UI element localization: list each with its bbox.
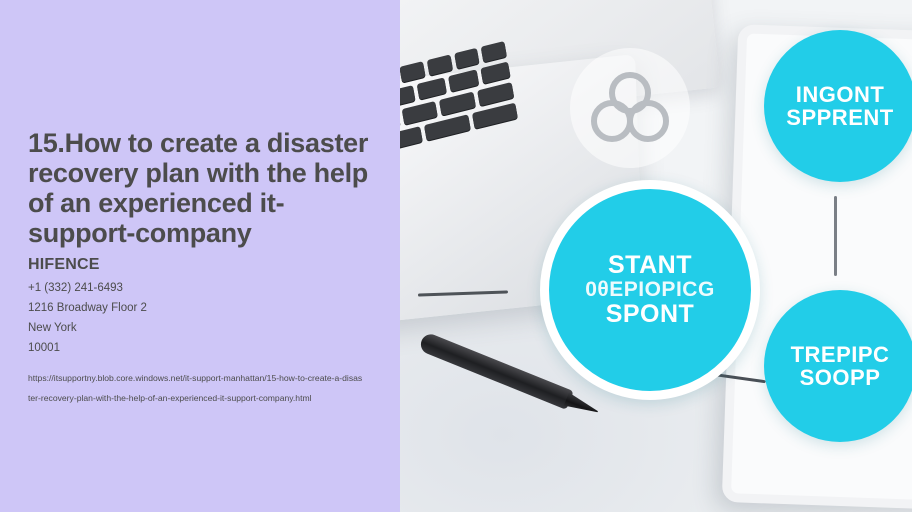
photo-panel: STANT 0θEPIOPICG SPONT INGONT SPPRENT TR… [400,0,912,512]
diagram-bottom-line1: TREPIPC [791,343,890,366]
diagram-bottom-line2: SOOPP [800,366,881,389]
interlocking-rings-icon [587,71,673,145]
keyboard-key [477,82,514,106]
page-title: 15.How to create a disaster recovery pla… [28,128,376,248]
rings-icon-badge [570,48,690,168]
text-block: 15.How to create a disaster recovery pla… [28,128,376,408]
diagram-circle-bottom: TREPIPC SOOPP [764,290,912,442]
diagram-main-line1: STANT [608,252,692,279]
left-info-panel: 15.How to create a disaster recovery pla… [0,0,400,512]
address-zip: 10001 [28,338,376,358]
diagram-main-line3: SPONT [606,301,695,328]
keyboard-key [401,101,438,125]
keyboard-key [448,69,479,92]
diagram-circle-top: INGONT SPPRENT [764,30,912,182]
keyboard-key [400,126,423,152]
phone-number: +1 (332) 241-6493 [28,278,376,298]
laptop-keyboard [400,41,523,195]
keyboard-key [480,62,511,85]
slide-canvas: 15.How to create a disaster recovery pla… [0,0,912,512]
connector-vertical [834,196,837,276]
keyboard-key [439,92,476,116]
source-url[interactable]: https://itsupportny.blob.core.windows.ne… [28,368,364,408]
diagram-main-line2: 0θEPIOPICG [585,279,715,301]
keyboard-key [417,77,448,100]
diagram-top-line1: INGONT [796,83,885,106]
keyboard-key [400,85,416,108]
address-line-1: 1216 Broadway Floor 2 [28,298,376,318]
diagram-circle-main: STANT 0θEPIOPICG SPONT [540,180,760,400]
company-name: HIFENCE [28,256,376,274]
address-city: New York [28,318,376,338]
diagram-top-line2: SPPRENT [786,106,893,129]
